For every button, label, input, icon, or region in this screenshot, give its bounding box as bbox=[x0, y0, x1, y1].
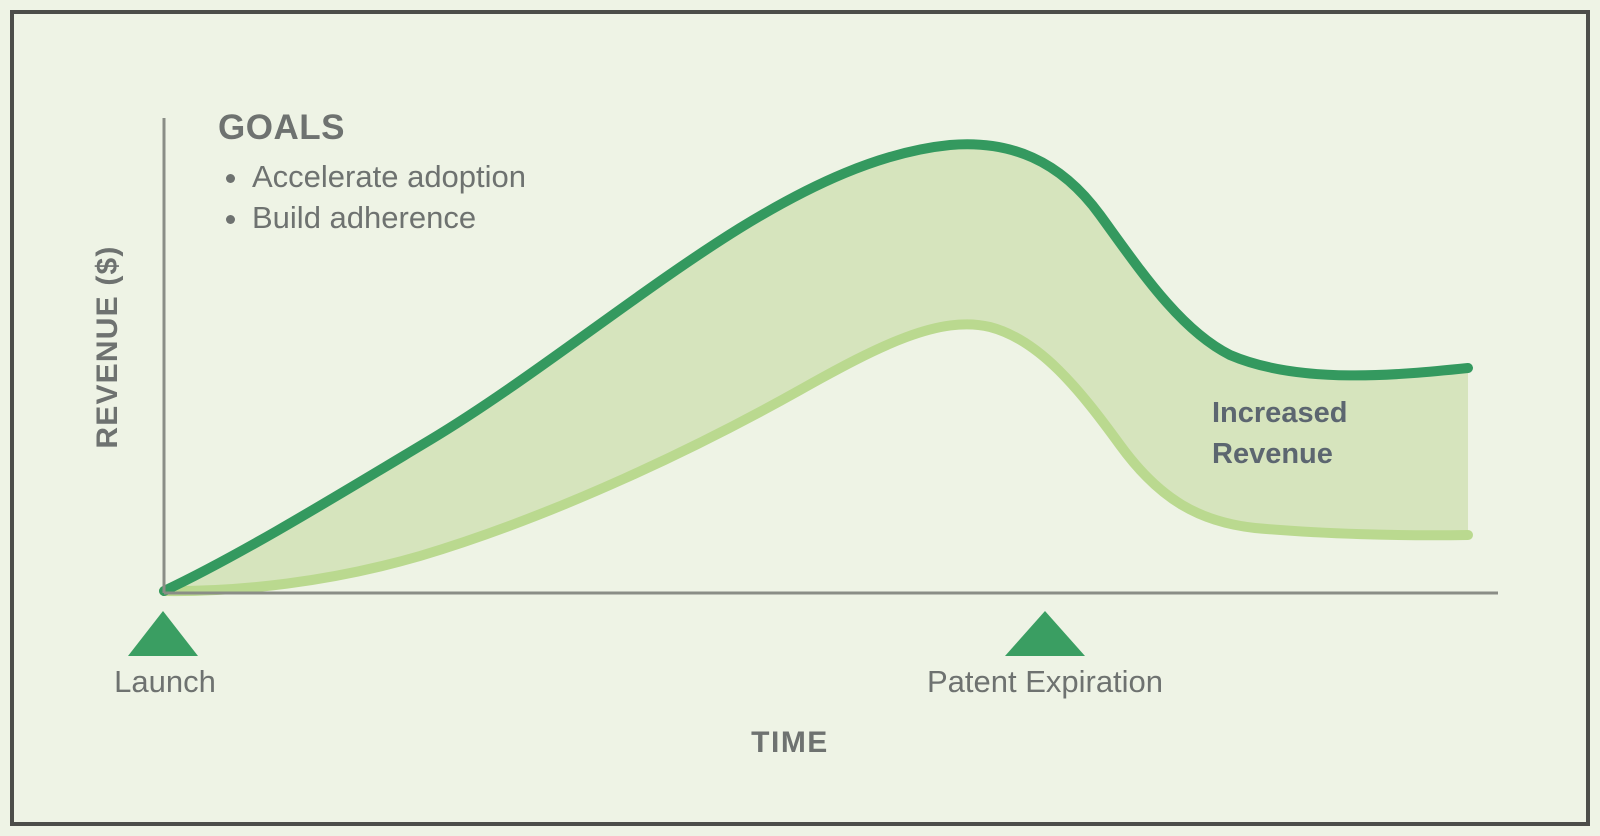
x-axis-label: TIME bbox=[660, 726, 920, 760]
increased-revenue-line-1: Increased bbox=[1212, 393, 1442, 434]
launch-marker-triangle-icon bbox=[128, 611, 198, 656]
goals-list-item-label: Build adherence bbox=[252, 200, 476, 235]
patent-expiration-marker-label: Patent Expiration bbox=[850, 664, 1240, 700]
goals-list-item-label: Accelerate adoption bbox=[252, 159, 526, 194]
chart-canvas: GOALS Accelerate adoption Build adherenc… bbox=[0, 0, 1600, 836]
goals-list: Accelerate adoption Build adherence bbox=[218, 159, 648, 236]
increased-revenue-line-2: Revenue bbox=[1212, 434, 1442, 475]
goals-title: GOALS bbox=[218, 110, 648, 145]
increased-revenue-annotation: Increased Revenue bbox=[1212, 393, 1442, 475]
bullet-icon bbox=[226, 174, 235, 183]
launch-marker-label: Launch bbox=[20, 664, 310, 700]
y-axis-label: REVENUE ($) bbox=[91, 217, 125, 477]
goals-list-item: Build adherence bbox=[218, 200, 648, 237]
patent-expiration-marker-triangle-icon bbox=[1005, 611, 1085, 656]
goals-list-item: Accelerate adoption bbox=[218, 159, 648, 196]
goals-block: GOALS Accelerate adoption Build adherenc… bbox=[218, 110, 648, 240]
bullet-icon bbox=[226, 215, 235, 224]
